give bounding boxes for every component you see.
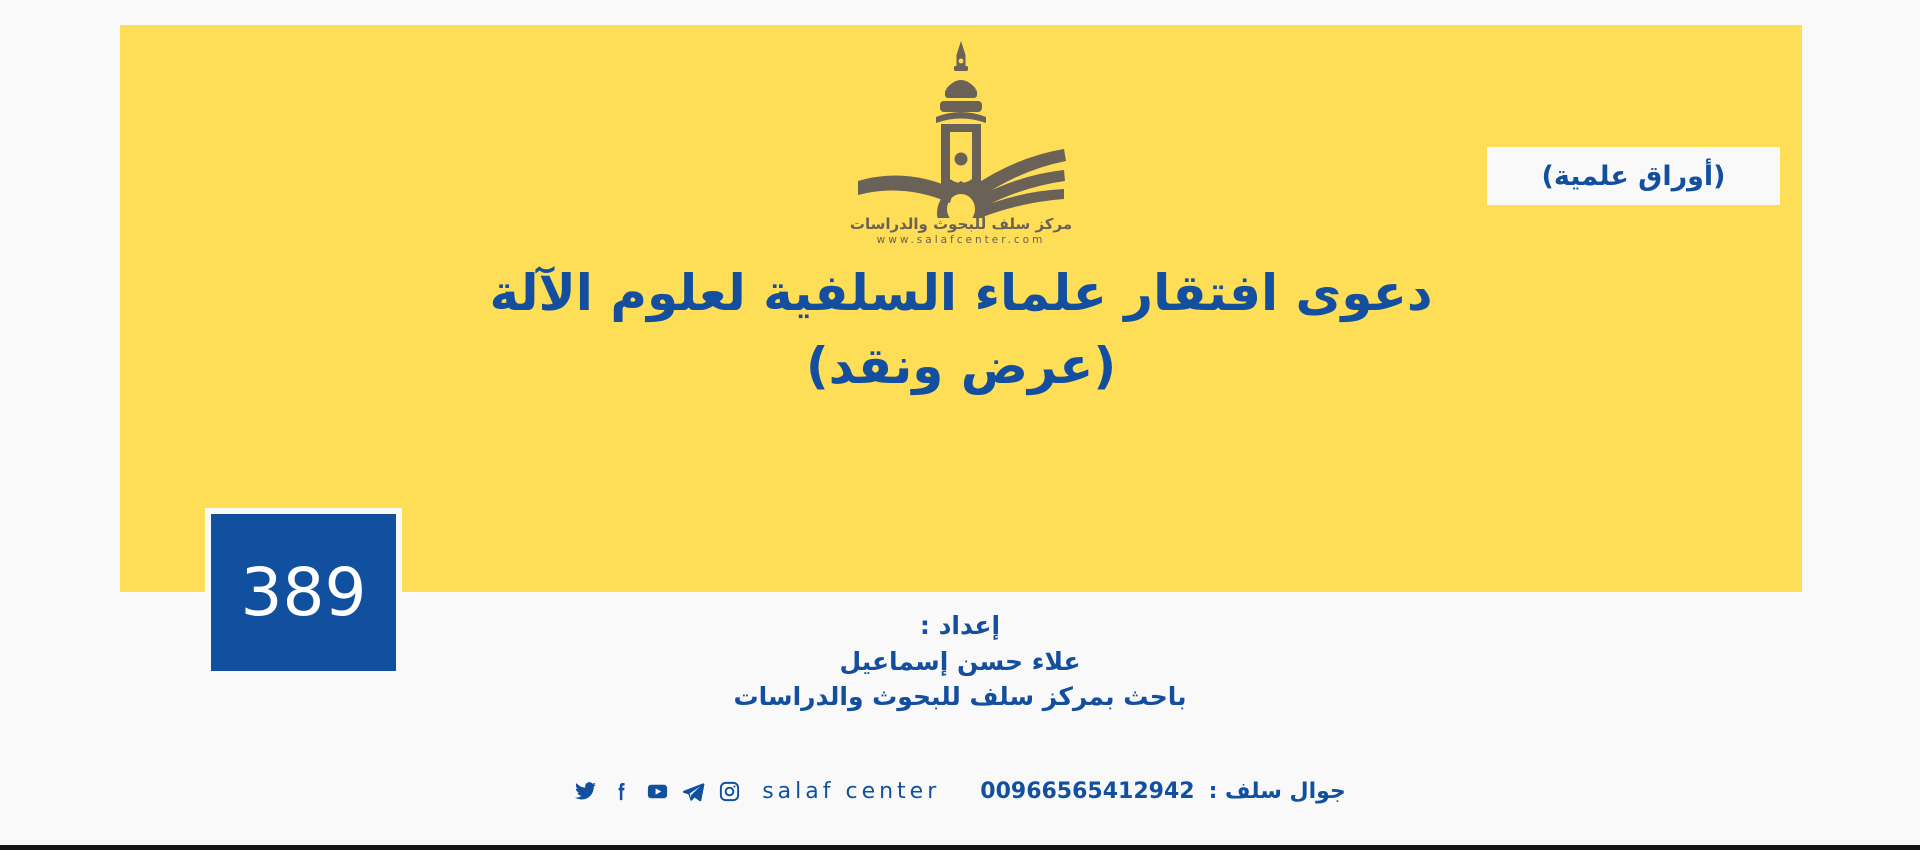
youtube-icon[interactable] [646,780,669,803]
status-badge-label: (أوراق علمية) [1541,163,1725,190]
facebook-icon[interactable] [610,780,633,803]
page-title-line-1: دعوى افتقار علماء السلفية لعلوم الآلة [270,257,1652,330]
yellow-banner: (أوراق علمية) [120,25,1802,592]
credits-author-affiliation: باحث بمركز سلف للبحوث والدراسات [0,679,1920,715]
footer-phone-label: جوال سلف : [1209,779,1346,804]
logo-caption-url: www.salafcenter.com [831,233,1091,248]
twitter-icon[interactable] [574,780,597,803]
credits-author-name: علاء حسن إسماعيل [0,644,1920,680]
bottom-divider [0,845,1920,850]
page-title-line-2: (عرض ونقد) [270,330,1652,403]
footer-phone-group: جوال سلف : 00966565412942 [980,779,1346,804]
credits-block: إعداد : علاء حسن إسماعيل باحث بمركز سلف … [0,608,1920,715]
logo-caption-arabic: مركز سلف للبحوث والدراسات [831,216,1091,233]
credits-prepared-by-label: إعداد : [0,608,1920,644]
footer-phone-number: 00966565412942 [980,779,1194,804]
footer-social-list: salaf center [574,779,940,804]
brand-logo: مركز سلف للبحوث والدراسات www.salafcente… [831,33,1091,247]
minaret-pen-book-icon [846,33,1076,218]
cover-page: (أوراق علمية) [0,0,1920,850]
instagram-icon[interactable] [718,780,741,803]
status-badge: (أوراق علمية) [1487,147,1780,205]
footer-social-handle: salaf center [762,779,940,804]
footer-bar: جوال سلف : 00966565412942 [0,768,1920,814]
page-title: دعوى افتقار علماء السلفية لعلوم الآلة (ع… [120,257,1802,402]
telegram-icon[interactable] [682,780,705,803]
